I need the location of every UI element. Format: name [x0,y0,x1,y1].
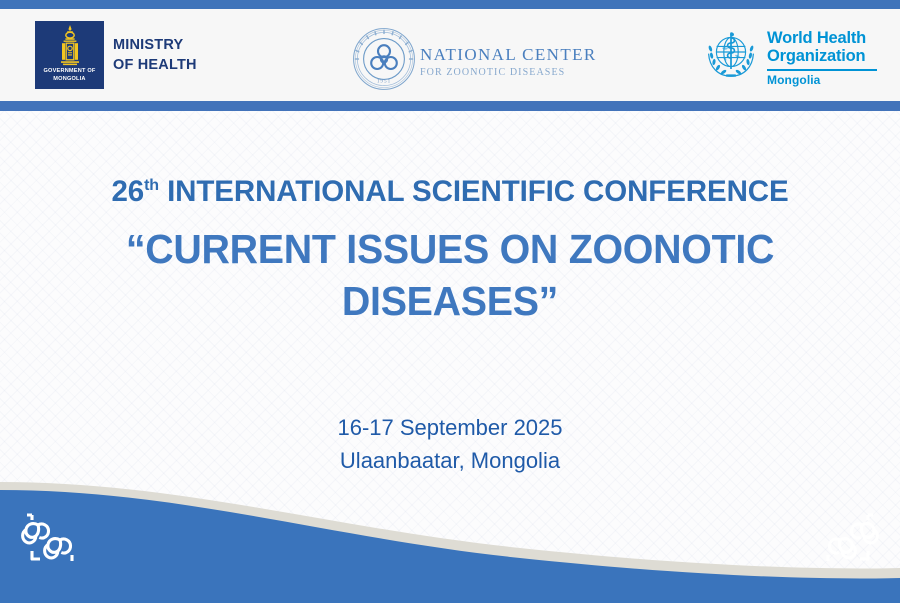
logo-header-band: GOVERNMENT OF MONGOLIA MINISTRY OF HEALT… [0,9,900,101]
kicker-text: INTERNATIONAL SCIENTIFIC CONFERENCE [167,175,788,208]
header-divider-bar [0,101,900,111]
who-wordmark: World Health Organization Mongolia [767,26,877,87]
page-title: “CURRENT ISSUES ON ZOONOTIC DISEASES” [76,223,825,328]
kicker-number: 26 [111,175,144,208]
national-center-line2: FOR ZOONOTIC DISEASES [420,66,597,80]
event-date: 16-17 September 2025 [0,411,900,444]
kicker-ordinal: th [144,177,159,194]
page-title-line2: DISEASES” [76,275,825,327]
who-logo: World Health Organization Mongolia [702,26,877,87]
who-name-line1: World Health [767,29,877,47]
ministry-name: MINISTRY OF HEALTH [113,35,197,75]
conference-banner-slide: GOVERNMENT OF MONGOLIA MINISTRY OF HEALT… [0,0,900,603]
mongolian-knot-ornament-left [16,507,90,569]
crest-caption: GOVERNMENT OF MONGOLIA [43,67,95,84]
biohazard-seal-icon: 1951 [352,27,416,91]
national-center-logo: 1951 NATIONAL CENTER FOR ZOONOTIC DISEAS… [352,27,597,91]
soyombo-emblem [53,24,87,68]
government-of-mongolia-crest: GOVERNMENT OF MONGOLIA [35,21,104,89]
footer-wave-decoration [0,468,900,603]
national-center-line1: NATIONAL CENTER [420,46,597,65]
seal-year: 1951 [377,79,391,85]
ministry-of-health-logo: GOVERNMENT OF MONGOLIA MINISTRY OF HEALT… [35,21,197,89]
conference-kicker: 26th INTERNATIONAL SCIENTIFIC CONFERENCE [0,175,900,209]
national-center-wordmark: NATIONAL CENTER FOR ZOONOTIC DISEASES [420,38,597,79]
top-accent-bar [0,0,900,9]
who-name-line2: Organization [767,47,877,65]
who-country-label: Mongolia [767,73,877,87]
page-title-line1: “CURRENT ISSUES ON ZOONOTIC [76,223,825,275]
who-underline-rule [767,69,877,71]
mongolian-knot-ornament-right [810,507,884,569]
who-emblem-icon [702,26,760,84]
